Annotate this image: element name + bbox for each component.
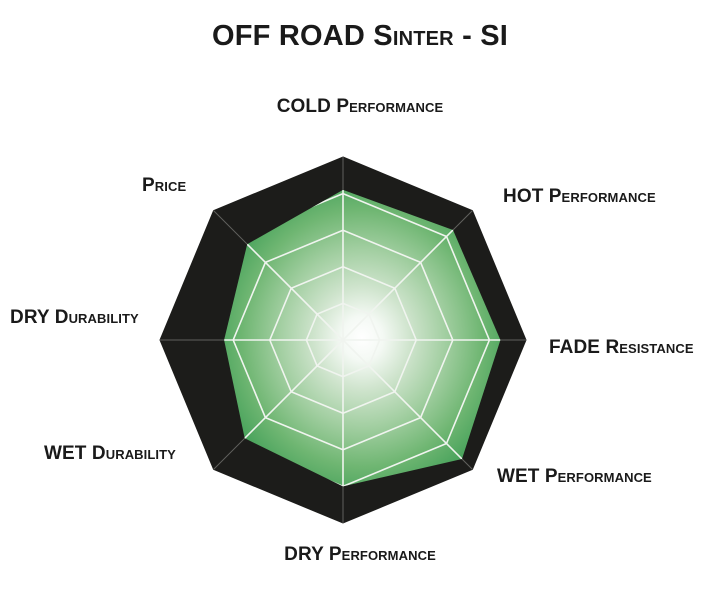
radar-chart-page: OFF ROAD Sinter - SI: [0, 0, 720, 600]
axis-label-price: Price: [142, 175, 186, 197]
axis-label-wet-durability: WET Durability: [44, 443, 176, 465]
axis-label-cold-performance: COLD Performance: [0, 96, 720, 118]
axis-label-dry-durability: DRY Durability: [10, 307, 139, 329]
axis-label-wet-performance: WET Performance: [497, 466, 652, 488]
axis-label-hot-performance: HOT Performance: [503, 186, 656, 208]
radar-chart-graphic: [0, 0, 720, 600]
axis-label-dry-performance: DRY Performance: [0, 544, 720, 566]
axis-label-fade-resistance: FADE Resistance: [549, 337, 694, 359]
